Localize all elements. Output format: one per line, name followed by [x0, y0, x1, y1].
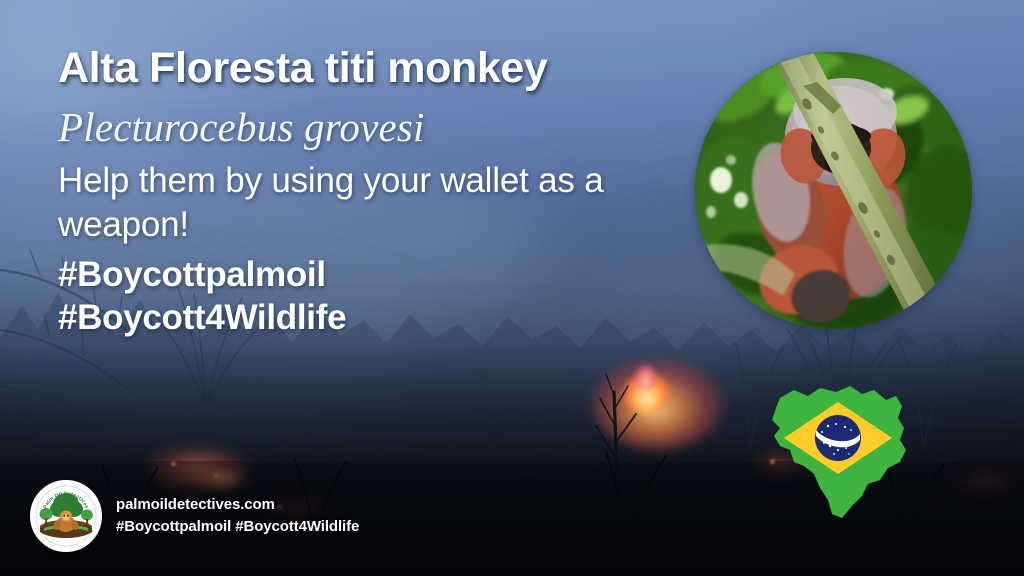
footer-branding: Palm Oil Detectives palmoildetectives.co…: [30, 480, 359, 552]
photo-panel-label: a: [709, 262, 723, 293]
scientific-name: Plecturocebus grovesi: [58, 106, 718, 149]
brazil-map-icon: [750, 380, 926, 520]
hashtag-boycott4wildlife: #Boycott4Wildlife: [58, 297, 718, 340]
footer-website[interactable]: palmoildetectives.com: [116, 495, 359, 515]
brazil-map-flag: [750, 380, 926, 520]
footer-hashtags: #Boycottpalmoil #Boycott4Wildlife: [116, 517, 359, 537]
hashtag-boycottpalmoil: #Boycottpalmoil: [58, 254, 718, 297]
footer-text-block: palmoildetectives.com #Boycottpalmoil #B…: [116, 495, 359, 538]
ember: [648, 398, 655, 403]
species-photo-circle: a: [695, 52, 972, 329]
titi-monkey-illustration: [695, 52, 972, 329]
headline-block: Alta Floresta titi monkey Plecturocebus …: [58, 46, 718, 340]
poster-canvas: Alta Floresta titi monkey Plecturocebus …: [0, 0, 1024, 576]
palm-oil-detectives-logo[interactable]: Palm Oil Detectives: [30, 480, 102, 552]
logo-badge-icon: Palm Oil Detectives: [32, 482, 100, 550]
species-photo: a: [695, 52, 972, 329]
page-title: Alta Floresta titi monkey: [58, 46, 718, 92]
tagline-text: Help them by using your wallet as a weap…: [58, 159, 678, 249]
